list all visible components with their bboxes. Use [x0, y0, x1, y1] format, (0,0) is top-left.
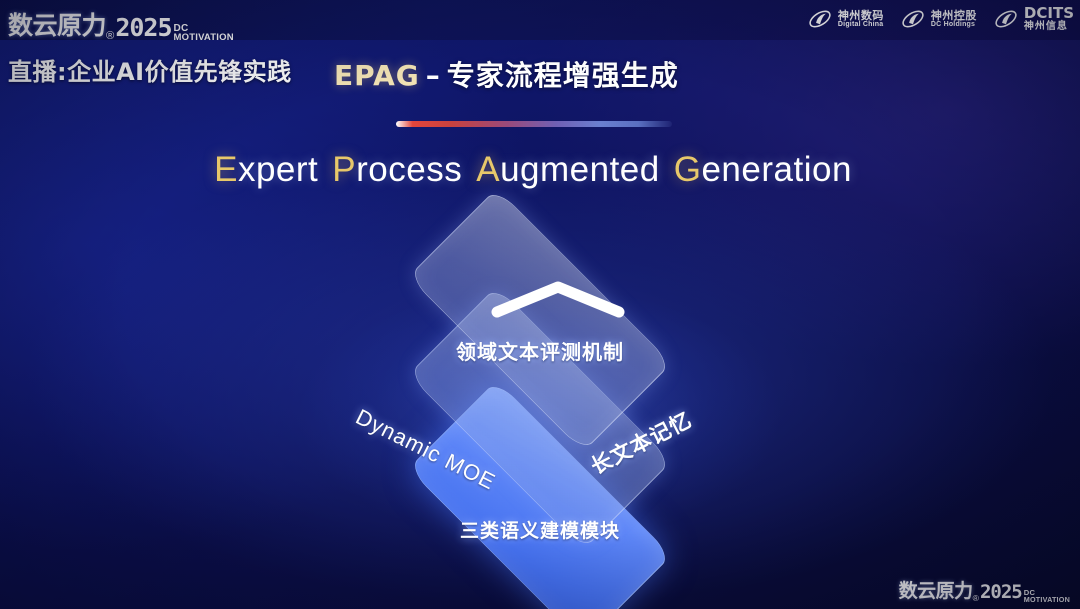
partner-name-en: Digital China [838, 21, 884, 28]
spiral-logo-icon [900, 6, 926, 32]
title-chinese: 专家流程增强生成 [447, 59, 679, 92]
title-acronym: EPAG [334, 59, 420, 92]
slide-canvas: 数云原力 ® 2025 DC MOTIVATION 神州数码 Digital C… [0, 0, 1080, 609]
event-logo-registered: ® [106, 30, 114, 42]
subtitle-rest: xpert [238, 150, 318, 189]
partner-label: DCITS 神州信息 [1024, 6, 1074, 32]
event-logo-registered: ® [973, 593, 979, 603]
subtitle-cap: E [214, 150, 238, 189]
partner-label: 神州数码 Digital China [838, 10, 884, 29]
event-logo-year: 2025 [980, 581, 1022, 603]
subtitle-cap: A [476, 150, 500, 189]
partner-logo-digital-china: 神州数码 Digital China [807, 4, 884, 34]
subtitle-rest: rocess [356, 150, 462, 189]
event-logo-top: 数云原力 ® 2025 DC MOTIVATION [8, 6, 234, 42]
subtitle-rest: ugmented [500, 150, 660, 189]
subtitle-cap: G [674, 150, 702, 189]
event-logo-cn: 数云原力 [8, 6, 106, 42]
event-logo-year: 2025 [115, 13, 171, 42]
event-logo-dc-line2: MOTIVATION [174, 34, 234, 42]
partner-name-en: 神州信息 [1024, 22, 1074, 33]
layer-top-plate [408, 188, 672, 452]
partner-logo-dc-holdings: 神州控股 DC Holdings [900, 4, 977, 34]
event-logo-dc-line2: MOTIVATION [1024, 597, 1070, 603]
subtitle-word-process: Process [332, 150, 462, 189]
event-logo-cn: 数云原力 [899, 576, 973, 603]
gradient-divider [396, 121, 672, 127]
subtitle-word-generation: Generation [674, 150, 852, 189]
partner-logo-dcits: DCITS 神州信息 [993, 4, 1074, 34]
live-stream-label: 直播:企业AI价值先锋实践 [8, 52, 292, 87]
partner-name-cn: 神州数码 [838, 10, 884, 22]
subtitle-cap: P [332, 150, 356, 189]
partner-label: 神州控股 DC Holdings [931, 10, 977, 29]
layer-bottom-label: 三类语义建模模块 [295, 516, 785, 543]
partner-name-cn: DCITS [1024, 6, 1074, 22]
partner-logo-group: 神州数码 Digital China 神州控股 DC Holdings DCIT… [807, 4, 1074, 34]
spiral-logo-icon [807, 6, 833, 32]
event-logo-dc: DC MOTIVATION [174, 25, 234, 42]
page-title: EPAG–专家流程增强生成 [334, 54, 679, 94]
layer-top-label: 领域文本评测机制 [295, 336, 785, 365]
title-dash: – [420, 59, 447, 92]
layer-stack-diagram: 领域文本评测机制 Dynamic MOE 长文本记忆 三类语义建模模块 [295, 228, 785, 568]
chevron-up-icon [491, 280, 625, 318]
subtitle-rest: eneration [701, 150, 851, 189]
event-logo-bottom: 数云原力 ® 2025 DC MOTIVATION [899, 576, 1070, 603]
subtitle-word-augmented: Augmented [476, 150, 660, 189]
spiral-logo-icon [993, 6, 1019, 32]
partner-name-cn: 神州控股 [931, 10, 977, 22]
subtitle-word-expert: Expert [214, 150, 318, 189]
subtitle-expansion: ExpertProcessAugmentedGeneration [0, 150, 1080, 190]
event-logo-dc: DC MOTIVATION [1024, 590, 1070, 603]
partner-name-en: DC Holdings [931, 21, 977, 28]
